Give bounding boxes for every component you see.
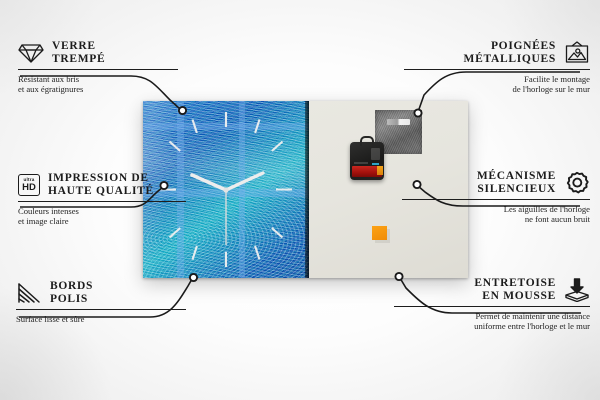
feature-subtitle: Permet de maintenir une distance uniform…: [394, 311, 590, 332]
mechanism-detail-c: [372, 163, 379, 165]
clock-minute-hand: [226, 173, 263, 190]
hanger-slot: [387, 119, 410, 125]
ultra-hd-icon: ultra HD: [18, 174, 40, 196]
feature-mecanisme-silencieux: MÉCANISME SILENCIEUX Les aiguilles de l'…: [402, 170, 590, 224]
diamond-icon: [18, 42, 44, 64]
ultra-hd-icon-large-text: HD: [22, 183, 36, 193]
battery-terminal: [377, 166, 383, 175]
mechanism-detail-b: [354, 162, 368, 164]
feature-subtitle: Couleurs intenses et image claire: [18, 206, 186, 227]
feature-entretoise-mousse: ENTRETOISE EN MOUSSE Permet de maintenir…: [394, 277, 590, 331]
feature-header: POIGNÉES MÉTALLIQUES: [404, 40, 590, 66]
feature-title: IMPRESSION DE HAUTE QUALITÉ: [48, 172, 154, 198]
feature-divider: [394, 306, 590, 307]
foam-spacer: [372, 226, 387, 240]
feature-title: POIGNÉES MÉTALLIQUES: [464, 40, 556, 66]
feature-title: ENTRETOISE EN MOUSSE: [474, 277, 556, 303]
clock-mechanism-box: [350, 142, 384, 180]
feature-header: ENTRETOISE EN MOUSSE: [394, 277, 590, 303]
battery: [352, 166, 382, 177]
feature-divider: [16, 309, 186, 310]
feature-verre-trempe: VERRE TREMPÉ Résistant aux bris et aux é…: [18, 40, 178, 94]
feature-subtitle: Résistant aux bris et aux égratignures: [18, 74, 178, 95]
feature-title: MÉCANISME SILENCIEUX: [477, 170, 556, 196]
clock-center-cap: [223, 187, 228, 192]
feature-header: ultra HD IMPRESSION DE HAUTE QUALITÉ: [18, 172, 186, 198]
gear-icon: [564, 171, 590, 196]
mechanism-hook: [360, 136, 374, 146]
feature-header: VERRE TREMPÉ: [18, 40, 178, 66]
clock-hour-hand: [192, 175, 226, 190]
feature-title: BORDS POLIS: [50, 280, 93, 306]
feature-title: VERRE TREMPÉ: [52, 40, 105, 66]
feature-divider: [404, 69, 590, 70]
feature-divider: [18, 201, 186, 202]
polished-edge-icon: [16, 282, 42, 304]
picture-frame-hanger-icon: [564, 41, 590, 65]
feature-divider: [402, 199, 590, 200]
feature-header: MÉCANISME SILENCIEUX: [402, 170, 590, 196]
down-arrow-stack-icon: [564, 278, 590, 302]
feature-subtitle: Surface lisse et sûre: [16, 314, 186, 324]
feature-poignees-metalliques: POIGNÉES MÉTALLIQUES Facilite le montage…: [404, 40, 590, 94]
feature-subtitle: Les aiguilles de l'horloge ne font aucun…: [402, 204, 590, 225]
feature-bords-polis: BORDS POLIS Surface lisse et sûre: [16, 280, 186, 324]
feature-subtitle: Facilite le montage de l'horloge sur le …: [404, 74, 590, 95]
feature-impression-hd: ultra HD IMPRESSION DE HAUTE QUALITÉ Cou…: [18, 172, 186, 226]
feature-divider: [18, 69, 178, 70]
feature-header: BORDS POLIS: [16, 280, 186, 306]
infographic-canvas: VERRE TREMPÉ Résistant aux bris et aux é…: [0, 0, 600, 400]
mechanism-detail-a: [371, 148, 380, 160]
